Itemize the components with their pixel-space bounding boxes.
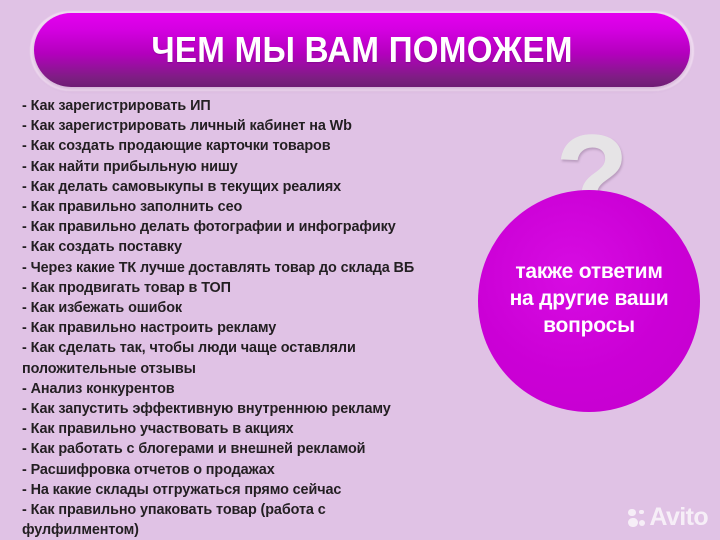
list-item: - Как запустить эффективную внутреннюю р… — [22, 399, 472, 419]
list-item: - Как найти прибыльную нишу — [22, 157, 472, 177]
poster-canvas: ЧЕМ МЫ ВАМ ПОМОЖЕМ - Как зарегистрироват… — [0, 0, 720, 540]
avito-wordmark: Avito — [649, 505, 708, 530]
answers-circle-text: также ответим на другие ваши вопросы — [478, 258, 700, 339]
list-item: - Как сделать так, чтобы люди чаще остав… — [22, 338, 472, 378]
list-item: - Как правильно участвовать в акциях — [22, 419, 472, 439]
avito-logo-icon — [628, 508, 645, 527]
list-item: - Как делать самовыкупы в текущих реалия… — [22, 177, 472, 197]
list-item: - Как работать с блогерами и внешней рек… — [22, 439, 472, 459]
list-item: - Через какие ТК лучше доставлять товар … — [22, 258, 472, 278]
list-item: - Как зарегистрировать личный кабинет на… — [22, 116, 472, 136]
list-item: - Анализ конкурентов — [22, 379, 472, 399]
answers-circle-line: также ответим — [478, 258, 700, 285]
answers-circle-line: на другие ваши — [478, 285, 700, 312]
list-item: - Как создать продающие карточки товаров — [22, 136, 472, 156]
list-item: - Как избежать ошибок — [22, 298, 472, 318]
list-item: - Как зарегистрировать ИП — [22, 96, 472, 116]
topics-list: - Как зарегистрировать ИП - Как зарегист… — [22, 96, 472, 540]
list-item: - Как правильно делать фотографии и инфо… — [22, 217, 472, 237]
list-item: - На какие склады отгружаться прямо сейч… — [22, 480, 472, 500]
page-title: ЧЕМ МЫ ВАМ ПОМОЖЕМ — [151, 32, 572, 68]
header-pill: ЧЕМ МЫ ВАМ ПОМОЖЕМ — [34, 13, 690, 87]
list-item: - Как создать поставку — [22, 237, 472, 257]
list-item: - Как правильно заполнить сео — [22, 197, 472, 217]
list-item: - Как продвигать товар в ТОП — [22, 278, 472, 298]
list-item: - Как правильно настроить рекламу — [22, 318, 472, 338]
list-item: - Как правильно упаковать товар (работа … — [22, 500, 472, 540]
answers-circle-line: вопросы — [478, 312, 700, 339]
list-item: - Расшифровка отчетов о продажах — [22, 460, 472, 480]
avito-watermark: Avito — [628, 505, 708, 530]
